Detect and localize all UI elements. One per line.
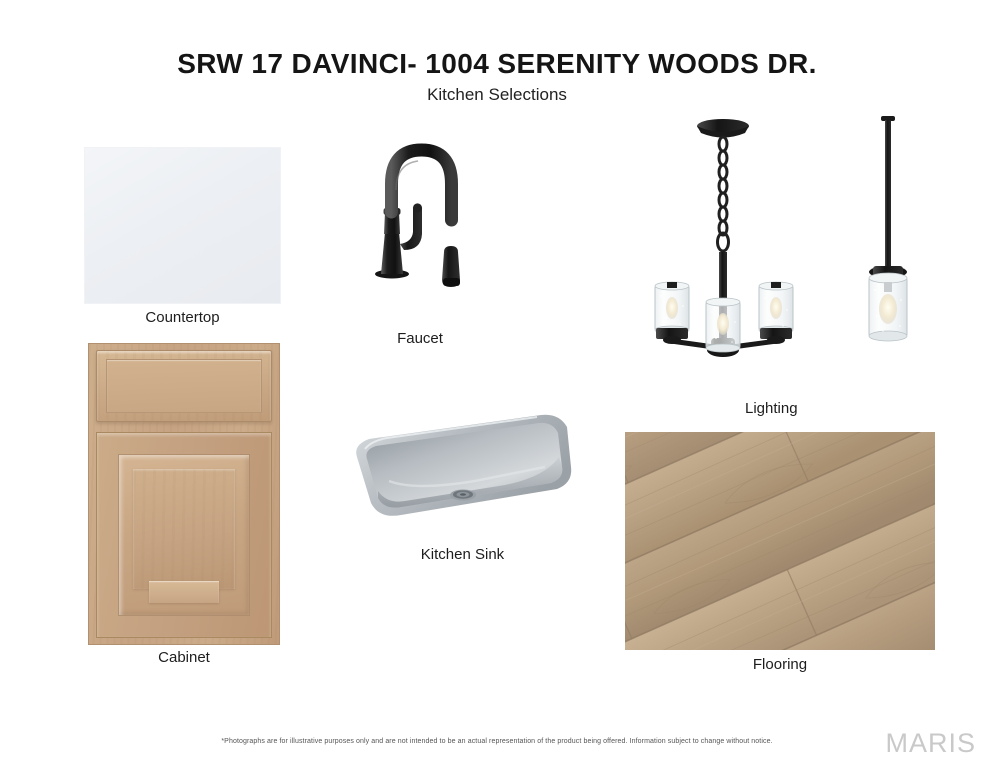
chandelier-and-pendant-icon <box>625 110 925 390</box>
page-subtitle: Kitchen Selections <box>0 85 994 105</box>
selection-lighting: Lighting <box>625 110 925 390</box>
kitchen-sink-image <box>345 405 580 535</box>
cabinet-panel-bevel <box>119 455 249 615</box>
kitchen-sink-label: Kitchen Sink <box>345 546 580 563</box>
cabinet-panel-center <box>133 469 235 589</box>
disclaimer-text: *Photographs are for illustrative purpos… <box>0 738 994 745</box>
selection-faucet: Faucet <box>355 112 485 317</box>
page-title: SRW 17 DAVINCI- 1004 SERENITY WOODS DR. <box>0 48 994 80</box>
cabinet-drawer-inset <box>106 359 262 413</box>
cabinet-bottom-rail <box>149 581 219 603</box>
flooring-label: Flooring <box>625 656 935 673</box>
countertop-label: Countertop <box>85 309 280 326</box>
maris-watermark: MARIS <box>885 728 976 759</box>
cabinet-label: Cabinet <box>88 649 280 666</box>
cabinet-drawer-face <box>96 350 272 422</box>
flooring-swatch-image <box>625 432 935 650</box>
kitchen-sink-icon <box>345 405 580 535</box>
selection-cabinet: Cabinet <box>88 343 280 645</box>
faucet-icon <box>355 112 485 317</box>
faucet-label: Faucet <box>355 330 485 347</box>
wood-plank-texture <box>625 432 935 650</box>
selection-kitchen-sink: Kitchen Sink <box>345 405 580 535</box>
faucet-image <box>355 112 485 317</box>
lighting-image <box>625 110 925 390</box>
cabinet-door-image <box>88 343 280 645</box>
selection-flooring: Flooring <box>625 432 935 650</box>
lighting-label: Lighting <box>625 400 994 417</box>
countertop-swatch-image <box>85 148 280 303</box>
cabinet-door-frame <box>96 432 272 638</box>
selection-countertop: Countertop <box>85 148 280 303</box>
